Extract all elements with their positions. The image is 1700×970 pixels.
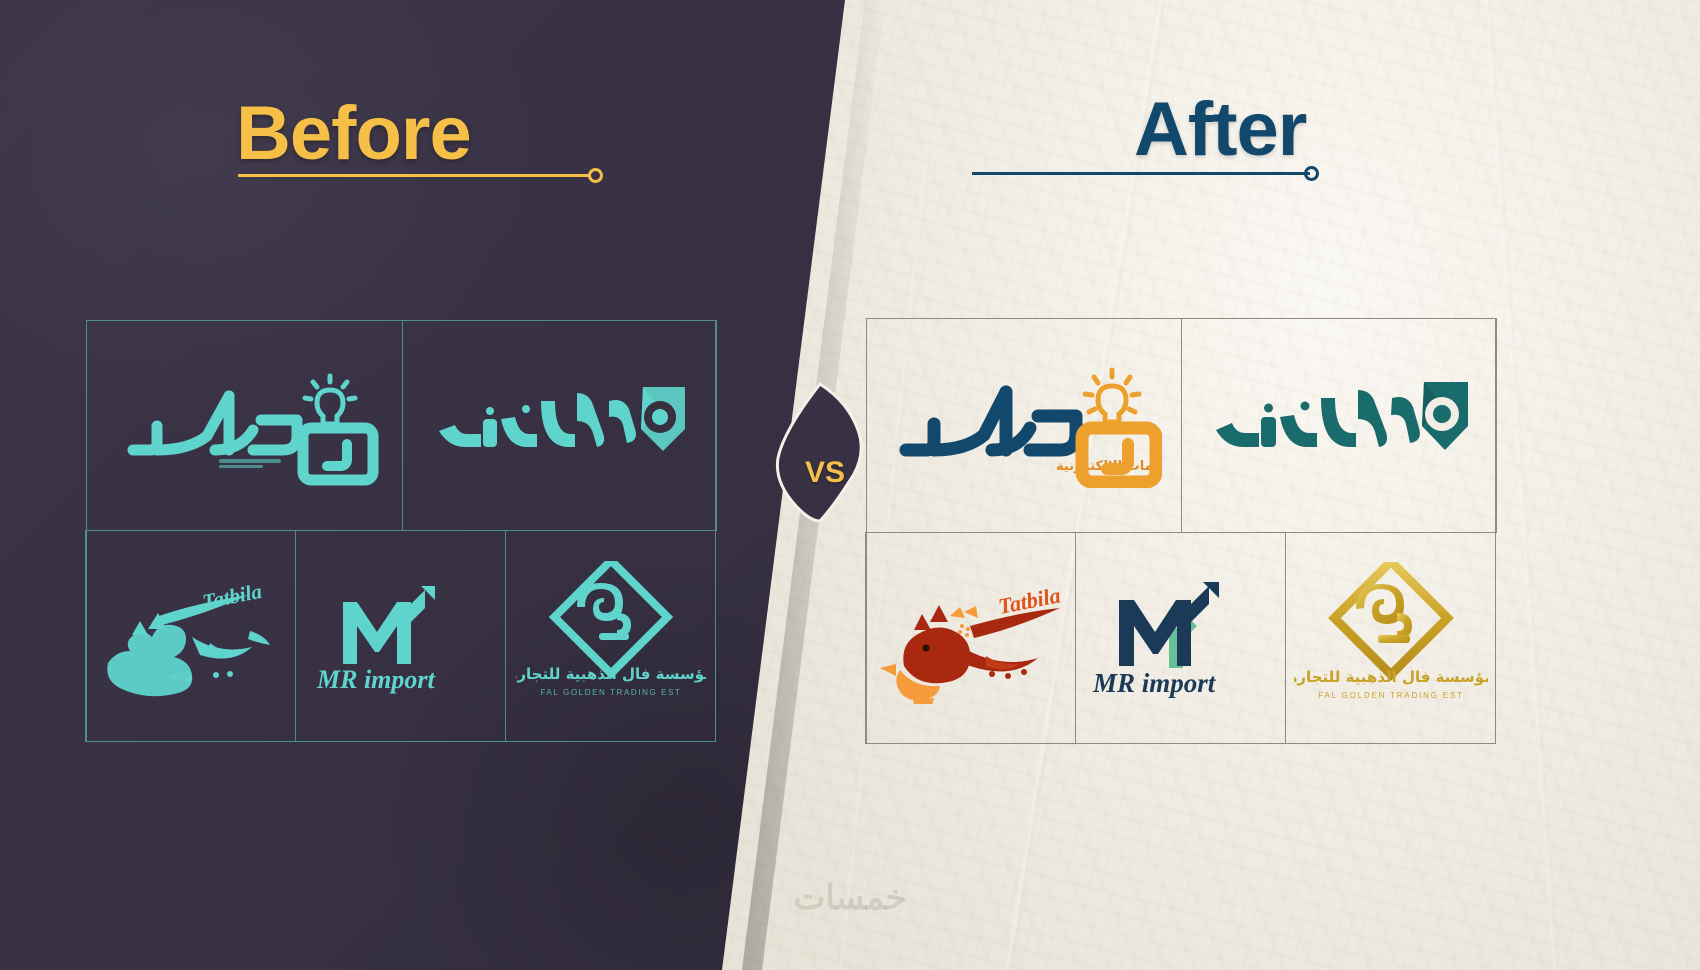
marasel-logo-color [1204,370,1474,482]
after-title-rule [972,172,1310,175]
tatbila-logo-mono: Tatbila [96,571,286,701]
after-logo-cell-marasel[interactable] [1181,318,1497,533]
svg-text:MR import: MR import [1092,668,1217,698]
svg-text:مؤسسة فال الذهبية للتجارة: مؤسسة فال الذهبية للتجارة [516,665,706,683]
holol-logo-mono [111,366,379,486]
mr-import-logo-mono: MR import [309,578,493,694]
svg-text:Tatbila: Tatbila [200,579,263,614]
after-logo-cell-holol[interactable]: للخدمات الإلكترونية [866,318,1182,533]
before-logo-cell-fal-golden[interactable]: مؤسسة فال الذهبية للتجارة FAL GOLDEN TRA… [505,530,716,742]
marasel-logo-mono [427,371,693,481]
before-logo-cell-marasel[interactable] [402,320,717,531]
after-rule-end-dot [1304,166,1319,181]
tatbila-logo-color: Tatbila [874,572,1068,704]
after-logo-cell-mr-import[interactable]: MR import [1075,532,1286,744]
before-title-rule [238,174,590,177]
fal-golden-logo-mono: مؤسسة فال الذهبية للتجارة FAL GOLDEN TRA… [516,561,706,711]
before-logo-grid-bottom: Tatbila MR import [86,530,716,742]
before-logo-cell-mr-import[interactable]: MR import [295,530,506,742]
after-logo-grid-bottom: Tatbila MR import [866,532,1496,744]
after-logo-cell-fal-golden[interactable]: مؤسسة فال الذهبية للتجارة FAL GOLDEN TRA… [1285,532,1496,744]
after-logo-cell-tatbila[interactable]: Tatbila [865,532,1076,744]
fal-golden-logo-color: مؤسسة فال الذهبية للتجارة FAL GOLDEN TRA… [1294,562,1488,714]
watermark: خمسات [0,878,1700,918]
vs-badge-label: VS [762,378,874,526]
slide-canvas: Before After [0,0,1700,970]
svg-text:MR import: MR import [316,665,436,694]
before-logo-cell-tatbila[interactable]: Tatbila [85,530,296,742]
svg-text:FAL GOLDEN TRADING EST: FAL GOLDEN TRADING EST [1318,691,1463,700]
svg-text:FAL GOLDEN TRADING EST: FAL GOLDEN TRADING EST [540,688,681,697]
page-title-before: Before [236,96,471,172]
vs-badge: VS [762,378,874,526]
before-rule-end-dot [588,168,603,183]
holol-logo-color: للخدمات الإلكترونية [886,364,1162,488]
svg-text:مؤسسة فال الذهبية للتجارة: مؤسسة فال الذهبية للتجارة [1294,668,1488,686]
mr-import-logo-color: MR import [1087,578,1275,698]
before-logo-cell-holol[interactable] [86,320,403,531]
page-title-after: After [1134,92,1306,168]
